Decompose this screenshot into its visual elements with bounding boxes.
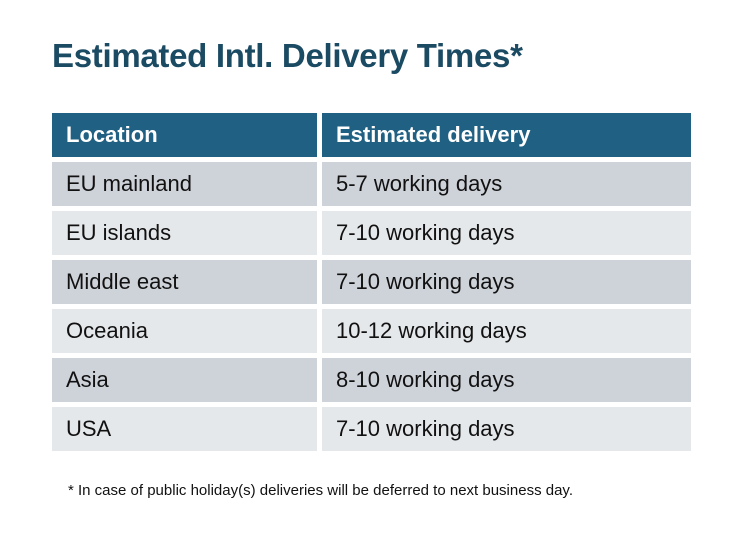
cell-delivery: 7-10 working days xyxy=(322,260,691,304)
cell-delivery: 7-10 working days xyxy=(322,211,691,255)
table-row: Middle east 7-10 working days xyxy=(52,260,691,304)
delivery-times-table: Location Estimated delivery EU mainland … xyxy=(52,113,691,451)
table-row: Oceania 10-12 working days xyxy=(52,309,691,353)
cell-location: Oceania xyxy=(52,309,317,353)
table-row: USA 7-10 working days xyxy=(52,407,691,451)
cell-delivery: 5-7 working days xyxy=(322,162,691,206)
column-header-delivery: Estimated delivery xyxy=(322,113,691,157)
table-row: EU islands 7-10 working days xyxy=(52,211,691,255)
cell-delivery: 10-12 working days xyxy=(322,309,691,353)
column-header-location: Location xyxy=(52,113,317,157)
table-header-row: Location Estimated delivery xyxy=(52,113,691,157)
table-row: Asia 8-10 working days xyxy=(52,358,691,402)
footnote-text: * In case of public holiday(s) deliverie… xyxy=(68,481,573,501)
table-row: EU mainland 5-7 working days xyxy=(52,162,691,206)
cell-location: EU mainland xyxy=(52,162,317,206)
cell-location: Asia xyxy=(52,358,317,402)
delivery-times-page: Estimated Intl. Delivery Times* Location… xyxy=(0,0,745,536)
cell-delivery: 8-10 working days xyxy=(322,358,691,402)
cell-location: Middle east xyxy=(52,260,317,304)
page-title: Estimated Intl. Delivery Times* xyxy=(52,36,523,76)
cell-location: USA xyxy=(52,407,317,451)
cell-location: EU islands xyxy=(52,211,317,255)
cell-delivery: 7-10 working days xyxy=(322,407,691,451)
